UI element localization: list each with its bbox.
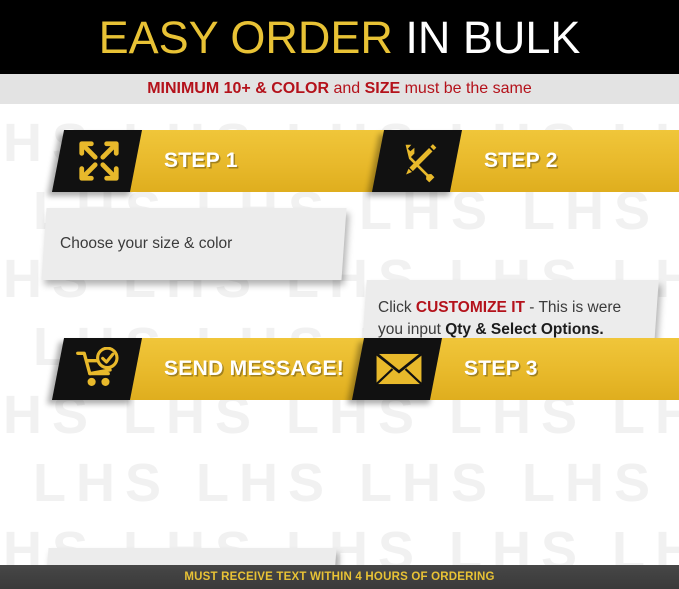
subtitle-part-b: and bbox=[329, 80, 365, 97]
step-title-band-step-2: STEP 2 bbox=[450, 130, 679, 192]
watermark-row: LHS LHS LHS LHS LHS LHS LHS bbox=[0, 456, 650, 510]
step-card-text-step-1: Choose your size & color bbox=[44, 233, 344, 255]
step-title-step-1: STEP 1 bbox=[164, 149, 238, 173]
step-text-segment: - This is were bbox=[525, 299, 621, 316]
step-text-segment: Choose your size & color bbox=[60, 235, 232, 252]
page-title: EASY ORDER IN BULK bbox=[99, 15, 581, 60]
step-text-line: Choose your size & color bbox=[60, 233, 326, 255]
header-subtitle: MINIMUM 10+ & COLOR and SIZE must be the… bbox=[147, 80, 532, 98]
step-text-segment: CUSTOMIZE IT bbox=[416, 299, 525, 316]
step-text-segment: you input bbox=[378, 321, 445, 338]
poster-root: LHS LHS LHS LHS LHS LHS LHSLHS LHS LHS L… bbox=[0, 0, 679, 589]
step-title-band-step-3: STEP 3 bbox=[430, 338, 679, 400]
header-banner: EASY ORDER IN BULK bbox=[0, 0, 679, 74]
header-subtitle-bar: MINIMUM 10+ & COLOR and SIZE must be the… bbox=[0, 74, 679, 104]
step-title-step-3: STEP 3 bbox=[464, 357, 538, 381]
subtitle-part-a: MINIMUM 10+ & COLOR bbox=[147, 80, 329, 97]
step-title-send-message: SEND MESSAGE! bbox=[164, 357, 344, 381]
step-text-segment: Click bbox=[378, 299, 416, 316]
page-title-gold: EASY ORDER bbox=[99, 12, 393, 63]
page-title-white: IN BULK bbox=[393, 12, 581, 63]
step-text-segment: Qty & Select Options. bbox=[445, 321, 603, 338]
step-card-header-step-3: STEP 3 bbox=[358, 338, 658, 400]
step-card-header-step-1: STEP 1 bbox=[58, 130, 398, 192]
footer-bar: MUST RECEIVE TEXT WITHIN 4 HOURS OF ORDE… bbox=[0, 565, 679, 589]
footer-text: MUST RECEIVE TEXT WITHIN 4 HOURS OF ORDE… bbox=[184, 571, 494, 583]
step-text-line: Click CUSTOMIZE IT - This is were bbox=[378, 297, 638, 319]
step-card-header-send-message: SEND MESSAGE! bbox=[58, 338, 368, 400]
step-card-header-step-2: STEP 2 bbox=[378, 130, 679, 192]
step-card-body-step-1: Choose your size & color bbox=[41, 208, 346, 280]
step-card-text-step-2: Click CUSTOMIZE IT - This is wereyou inp… bbox=[364, 297, 656, 341]
subtitle-part-d: must be the same bbox=[400, 80, 532, 97]
subtitle-part-c: SIZE bbox=[365, 80, 401, 97]
step-title-step-2: STEP 2 bbox=[484, 149, 558, 173]
